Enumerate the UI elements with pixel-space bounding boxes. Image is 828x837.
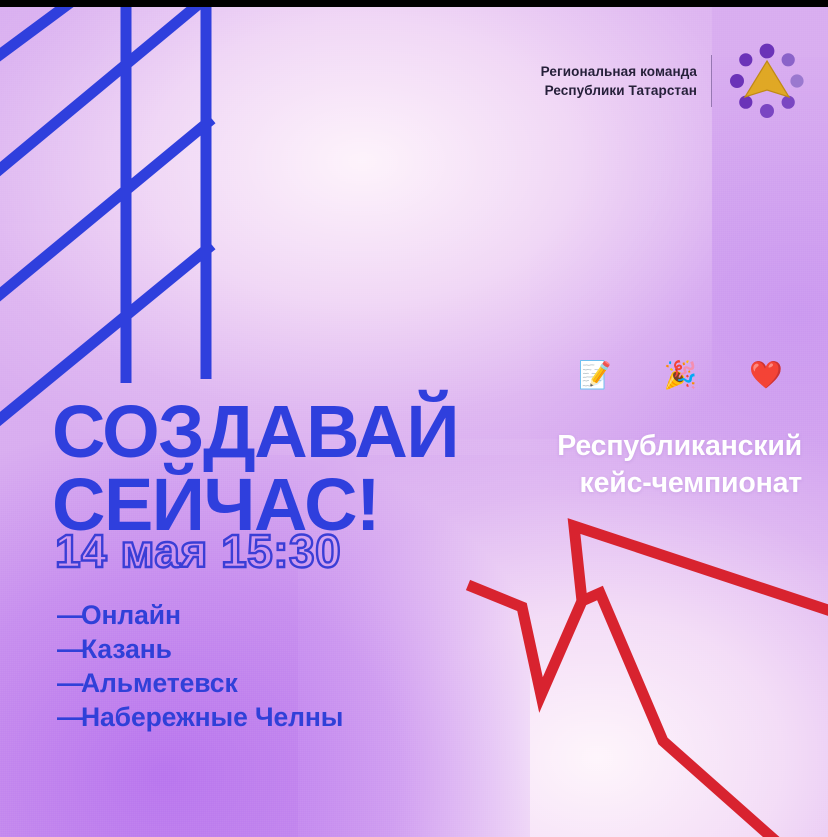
- party-popper-emoji: 🎉: [664, 362, 698, 389]
- city-label: Казань: [81, 634, 172, 664]
- brand-text: Региональная команда Республики Татарста…: [541, 62, 711, 100]
- city-label: Онлайн: [81, 600, 181, 630]
- brand-lockup: Региональная команда Республики Татарста…: [541, 42, 806, 120]
- list-item: —Онлайн: [57, 598, 343, 632]
- memo-emoji: 📝: [578, 362, 612, 389]
- logo-svg: [728, 42, 806, 120]
- event-datetime: 14 мая 15:30: [55, 528, 341, 574]
- red-heart-emoji: ❤️: [749, 362, 783, 389]
- poster-canvas: Региональная команда Республики Татарста…: [0, 0, 828, 837]
- brand-divider: [711, 55, 712, 107]
- list-dash: —: [57, 666, 81, 700]
- list-item: —Набережные Челны: [57, 700, 343, 734]
- list-dash: —: [57, 598, 81, 632]
- triangle-in-dots-logo: [728, 42, 806, 120]
- headline: СОЗДАВАЙ СЕЙЧАС!: [52, 395, 458, 542]
- city-label: Набережные Челны: [81, 702, 343, 732]
- list-dash: —: [57, 632, 81, 666]
- list-item: —Казань: [57, 632, 343, 666]
- list-item: —Альметевск: [57, 666, 343, 700]
- city-list: —Онлайн —Казань —Альметевск —Набережные …: [57, 598, 343, 734]
- letterbox-bar-top: [0, 0, 828, 7]
- emoji-row: 📝 🎉 ❤️: [578, 362, 783, 389]
- brand-line-1: Региональная команда: [541, 62, 697, 81]
- list-dash: —: [57, 700, 81, 734]
- brand-line-2: Республики Татарстан: [541, 81, 697, 100]
- logo-triangle: [745, 61, 789, 97]
- event-subtitle: Республиканский кейс-чемпионат: [502, 428, 802, 502]
- city-label: Альметевск: [81, 668, 238, 698]
